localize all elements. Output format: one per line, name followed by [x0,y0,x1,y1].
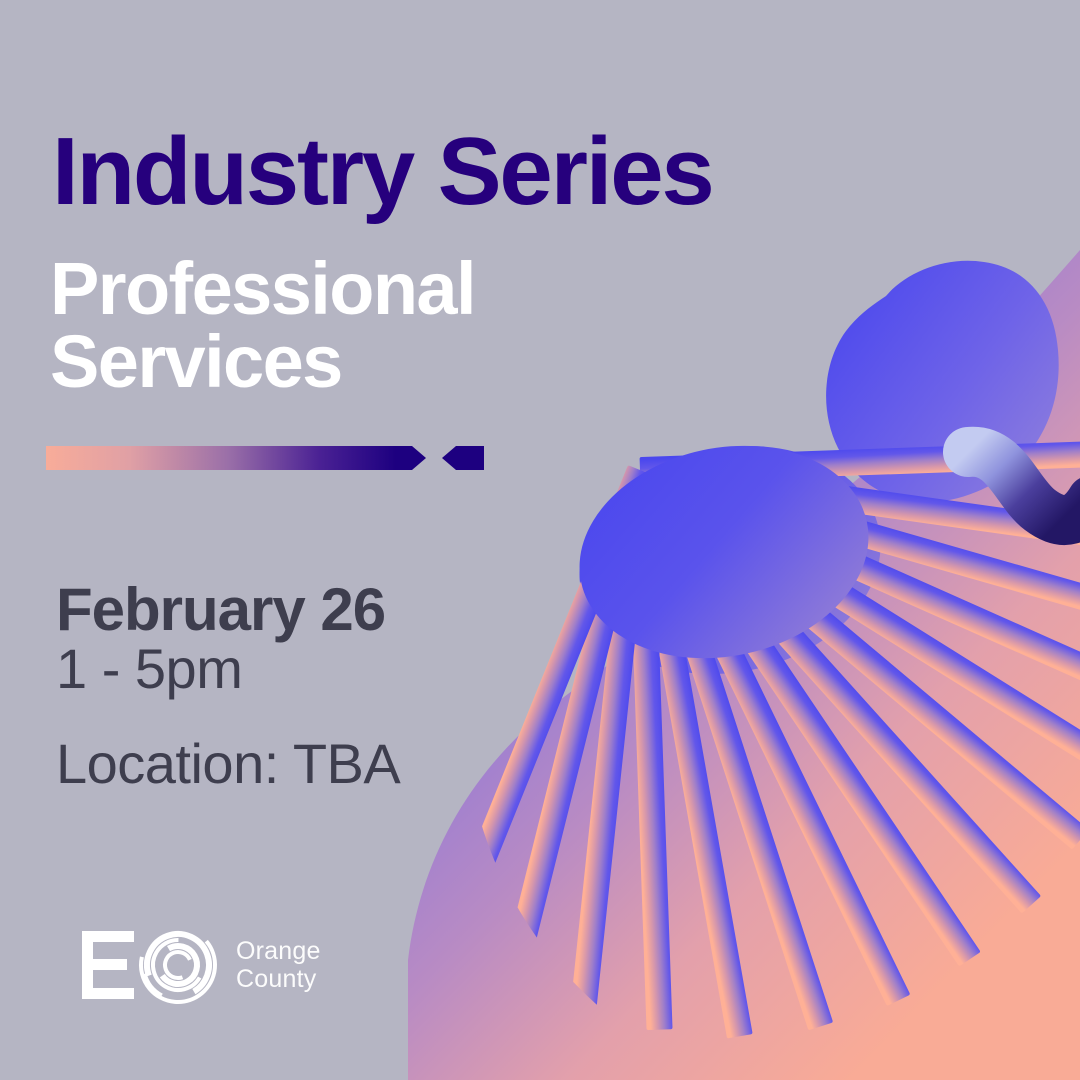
divider-chevron-block [442,446,484,470]
subtitle: Professional Services [50,252,475,399]
logo-org-line-1: Orange [236,937,321,965]
divider-arrow-bar [46,446,426,470]
event-location: Location: TBA [56,736,400,792]
logo-org-line-2: County [236,965,321,993]
page-title: Industry Series [52,124,713,220]
subtitle-line-2: Services [50,325,475,398]
poster-canvas: Industry Series Professional Services Fe… [0,0,1080,1080]
event-date: February 26 [56,580,385,640]
eo-logo-mark-icon [80,925,222,1005]
logo-org-name: Orange County [236,937,321,993]
eo-orange-county-logo: Orange County [80,925,321,1005]
event-time: 1 - 5pm [56,641,242,697]
gradient-divider [46,446,486,470]
subtitle-line-1: Professional [50,252,475,325]
